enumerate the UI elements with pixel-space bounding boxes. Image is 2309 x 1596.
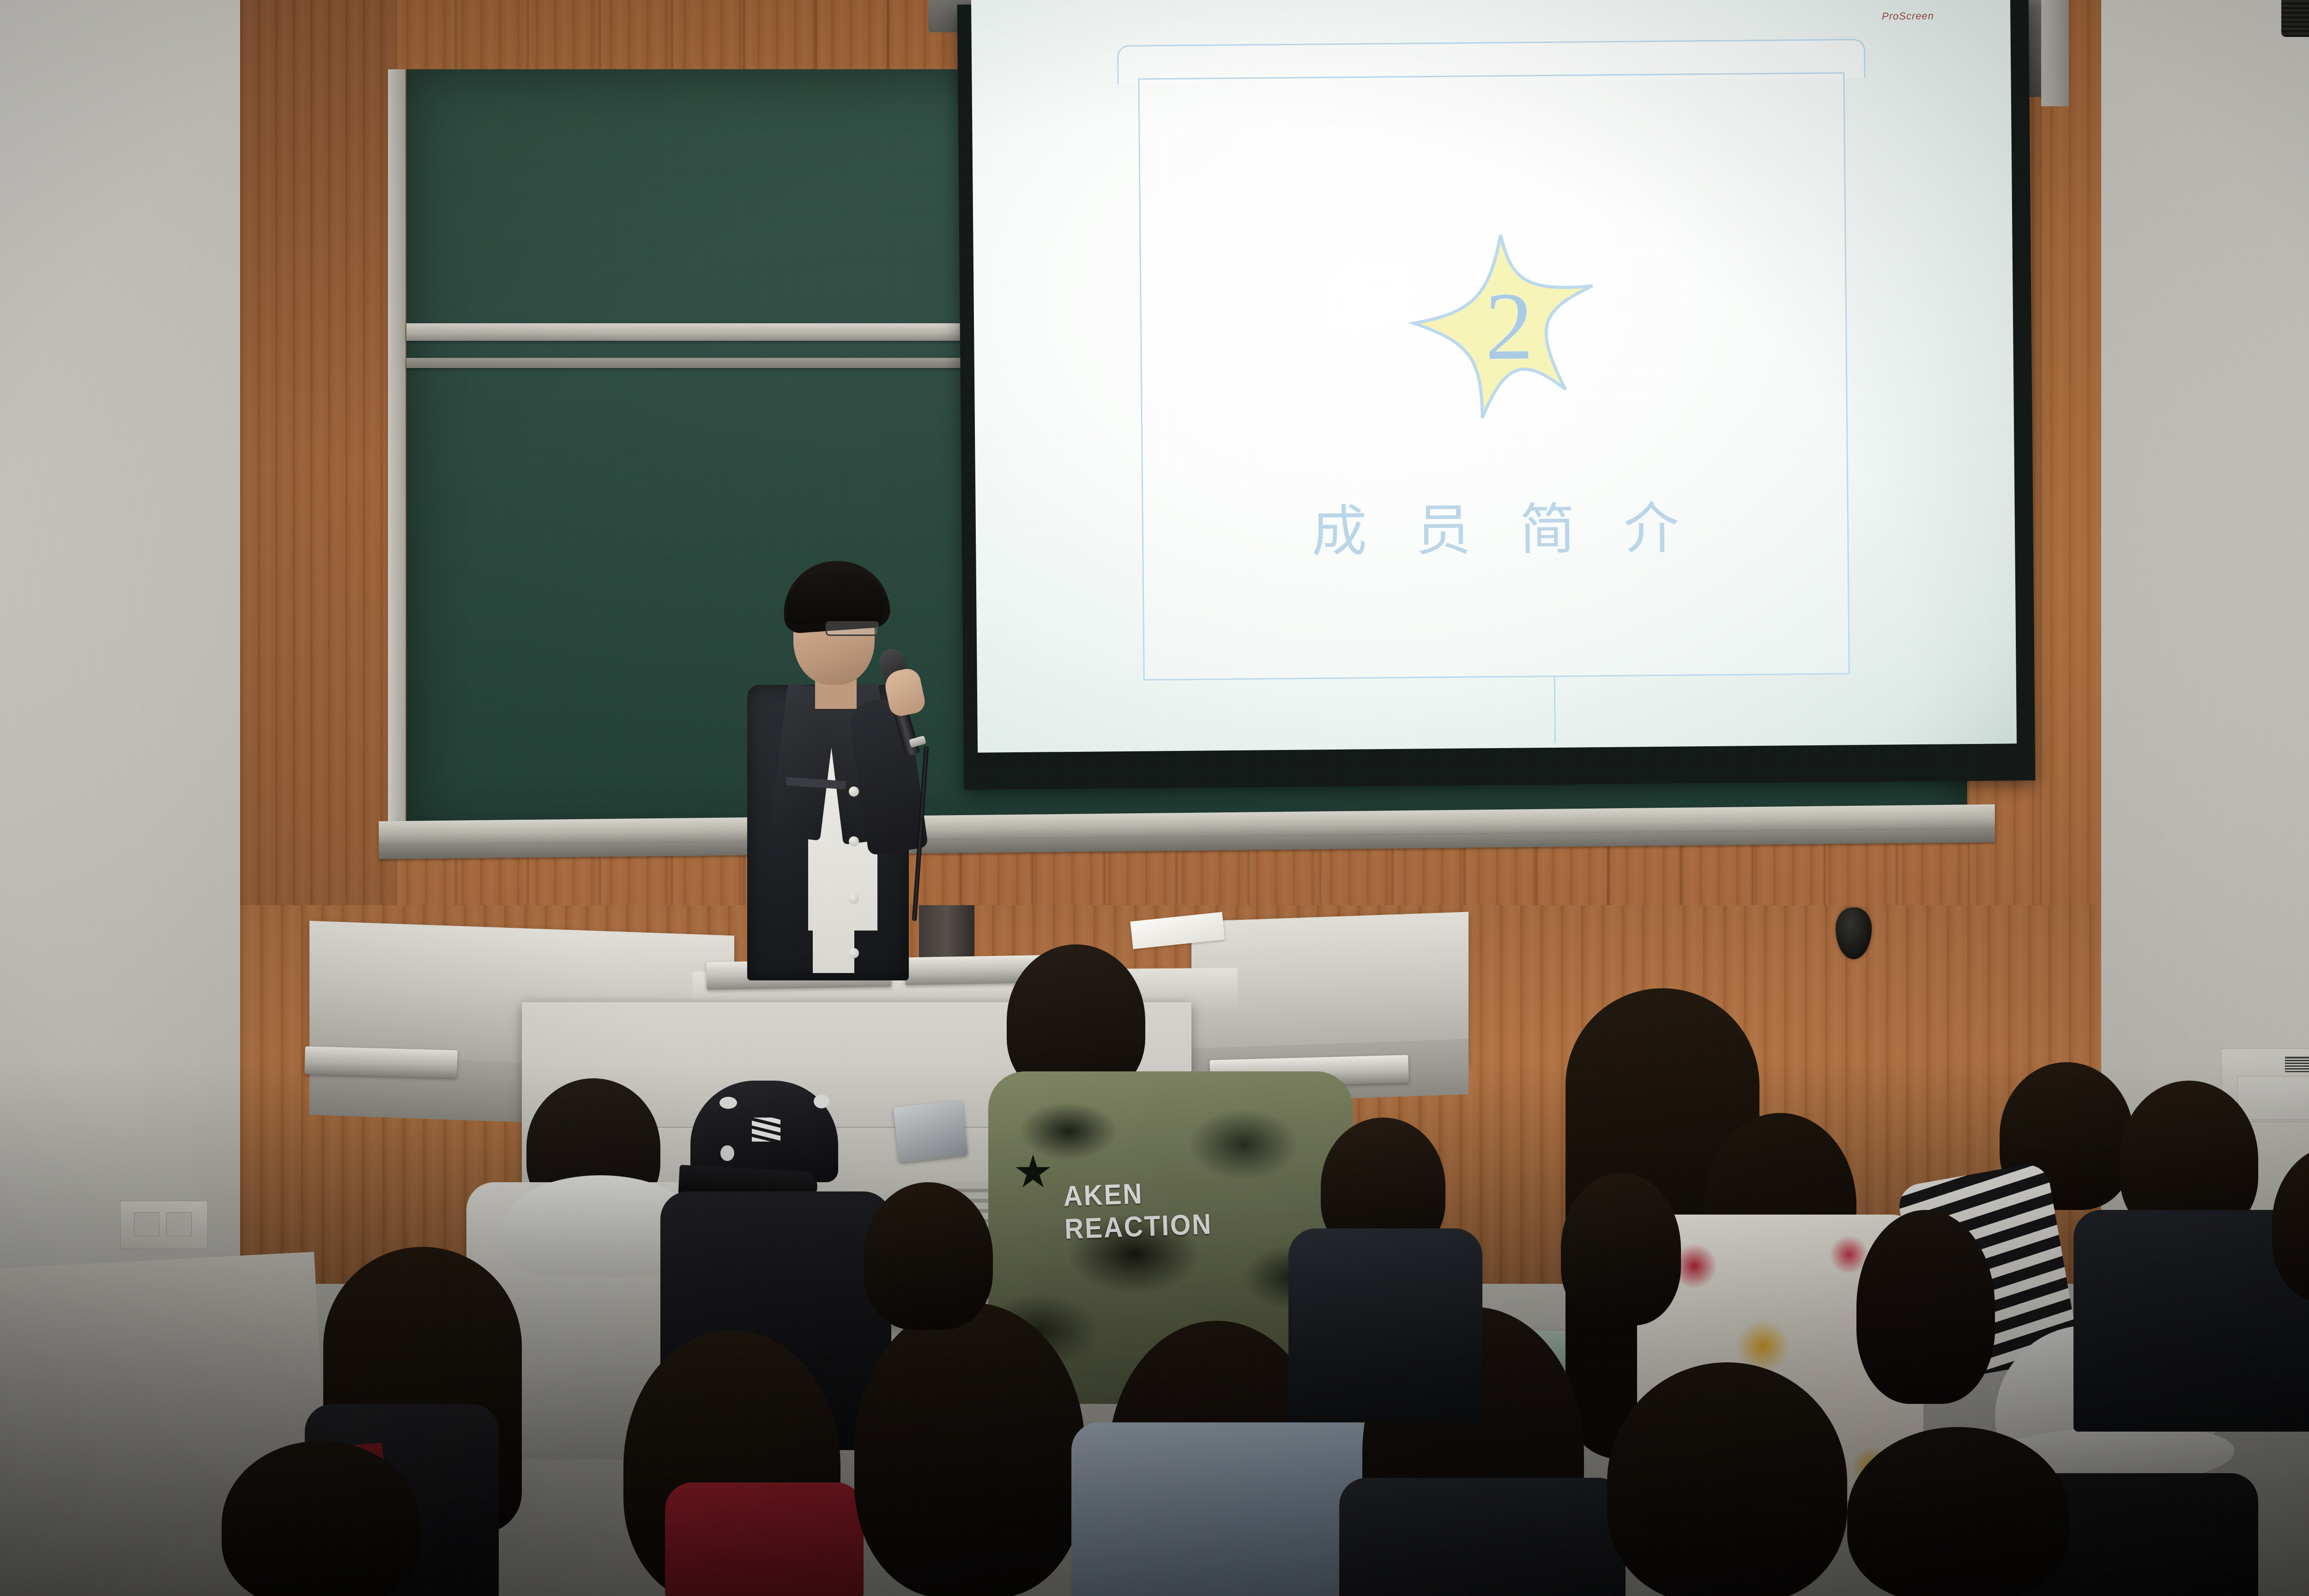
cap-dot-1 <box>719 1097 737 1109</box>
glasses-icon <box>826 621 879 636</box>
wall-panel-label <box>2285 1057 2309 1072</box>
left-wall <box>0 0 240 1339</box>
audience-head <box>854 1302 1085 1596</box>
presenter <box>734 561 933 986</box>
jacket-button <box>849 786 859 797</box>
jacket-button <box>849 836 859 846</box>
presentation-slide: 2 成 员 简 介 <box>971 0 2017 753</box>
audience-head <box>1847 1427 2069 1596</box>
screen-brand-logo: ProScreen <box>1882 10 1942 23</box>
cap-dot-2 <box>814 1094 829 1108</box>
audience-blue-hoodie <box>1071 1422 1376 1596</box>
chalkboard-upper-rail <box>406 323 974 341</box>
audience-head <box>864 1182 993 1330</box>
light-switch-button-1[interactable] <box>134 1212 159 1236</box>
audience-head <box>1607 1362 1847 1596</box>
chalkboard-left-trim <box>388 69 405 845</box>
audience-body <box>1288 1228 1482 1422</box>
slide-section-number: 2 <box>988 171 2017 482</box>
wall-access-panel-inner <box>2237 1076 2309 1120</box>
light-switch-plate[interactable] <box>120 1201 208 1249</box>
cap-dot-3 <box>720 1145 734 1161</box>
slide-title: 成 员 简 介 <box>975 480 2015 570</box>
podium-drawer-rail-d <box>304 1046 457 1078</box>
jacket-button <box>849 948 859 958</box>
audience-head <box>1561 1173 1681 1325</box>
light-switch-button-2[interactable] <box>166 1212 192 1236</box>
audience-body <box>1339 1478 1626 1596</box>
audience-head <box>1856 1210 1995 1404</box>
audience-red-top <box>665 1482 864 1596</box>
screen-mounting-bracket <box>2041 0 2069 106</box>
tablet-device[interactable] <box>893 1100 968 1162</box>
slide-connector-line <box>1553 675 1555 743</box>
cap-logo <box>752 1118 780 1142</box>
projection-screen: 2 成 员 简 介 <box>971 0 2017 753</box>
chalkboard-upper-rail-shadow <box>406 358 974 368</box>
camouflage-jacket-text: AKEN REACTION <box>1063 1173 1264 1245</box>
ceiling-speaker-grille <box>2281 0 2309 37</box>
jacket-button <box>849 894 859 904</box>
lecture-hall-photo: 2 成 员 简 介 ProScreen <box>0 0 2309 1596</box>
